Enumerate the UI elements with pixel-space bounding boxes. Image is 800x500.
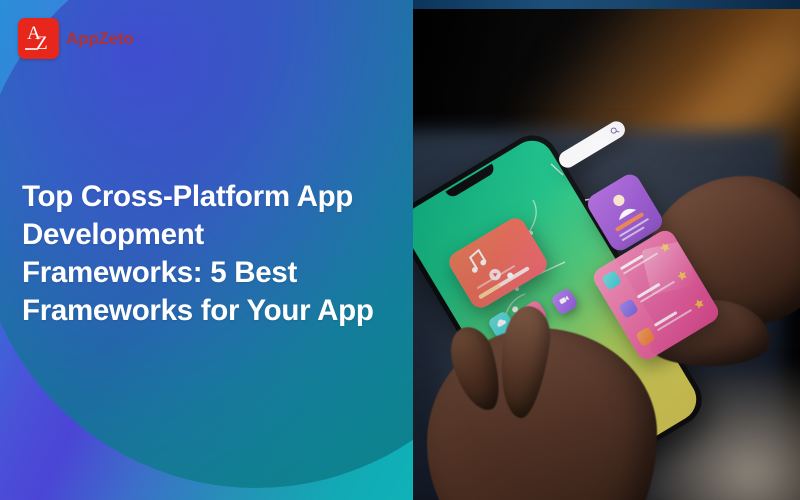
brand-wordmark: AppZeto: [66, 29, 134, 49]
user-avatar-icon: [635, 327, 656, 348]
page-title: Top Cross-Platform App Development Frame…: [22, 178, 374, 330]
blog-hero-banner: A Z AppZeto Top Cross-Platform App Devel…: [0, 0, 800, 500]
video-camera-icon: [555, 291, 575, 313]
svg-text:Z: Z: [36, 33, 48, 54]
brand-logo[interactable]: A Z AppZeto: [18, 18, 134, 59]
user-avatar-icon: [618, 298, 639, 319]
user-avatar-icon: [602, 185, 643, 228]
user-avatar-icon: [601, 270, 622, 291]
az-monogram-icon: A Z: [18, 18, 59, 59]
hero-photo: UI/UX: [413, 0, 800, 500]
left-content-panel: A Z AppZeto Top Cross-Platform App Devel…: [0, 0, 413, 500]
photo-top-strip: [413, 0, 800, 9]
star-icon: [690, 294, 709, 315]
